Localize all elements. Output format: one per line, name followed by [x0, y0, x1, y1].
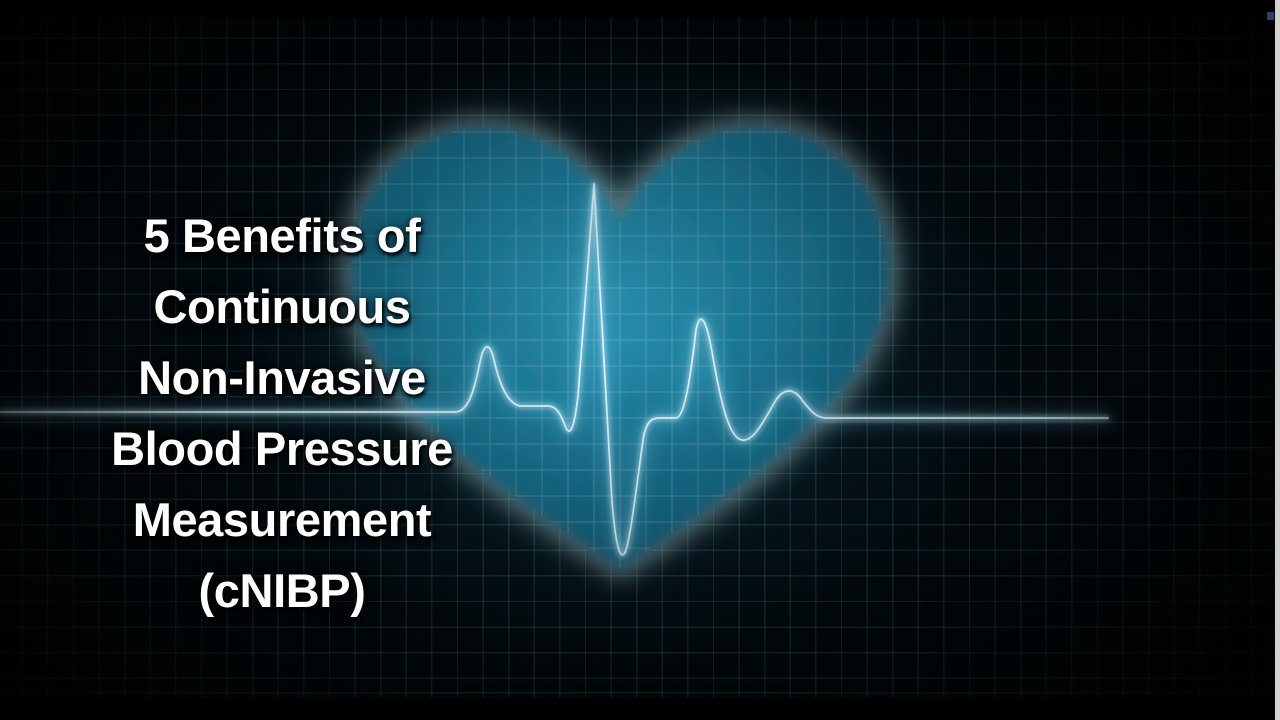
- title-line-5: Measurement: [52, 484, 512, 555]
- page-title: 5 Benefits of Continuous Non-Invasive Bl…: [52, 200, 512, 626]
- title-line-2: Continuous: [52, 271, 512, 342]
- title-line-6: (cNIBP): [52, 555, 512, 626]
- video-frame: 5 Benefits of Continuous Non-Invasive Bl…: [0, 18, 1280, 698]
- title-card-screen: 5 Benefits of Continuous Non-Invasive Bl…: [0, 0, 1280, 720]
- title-line-4: Blood Pressure: [52, 413, 512, 484]
- letterbox-bar-bottom: [0, 698, 1280, 720]
- title-line-1: 5 Benefits of: [52, 200, 512, 271]
- top-right-corner-artifact: [1267, 12, 1274, 20]
- right-edge-strip: [1275, 0, 1280, 720]
- title-line-3: Non-Invasive: [52, 342, 512, 413]
- letterbox-bar-top: [0, 0, 1280, 18]
